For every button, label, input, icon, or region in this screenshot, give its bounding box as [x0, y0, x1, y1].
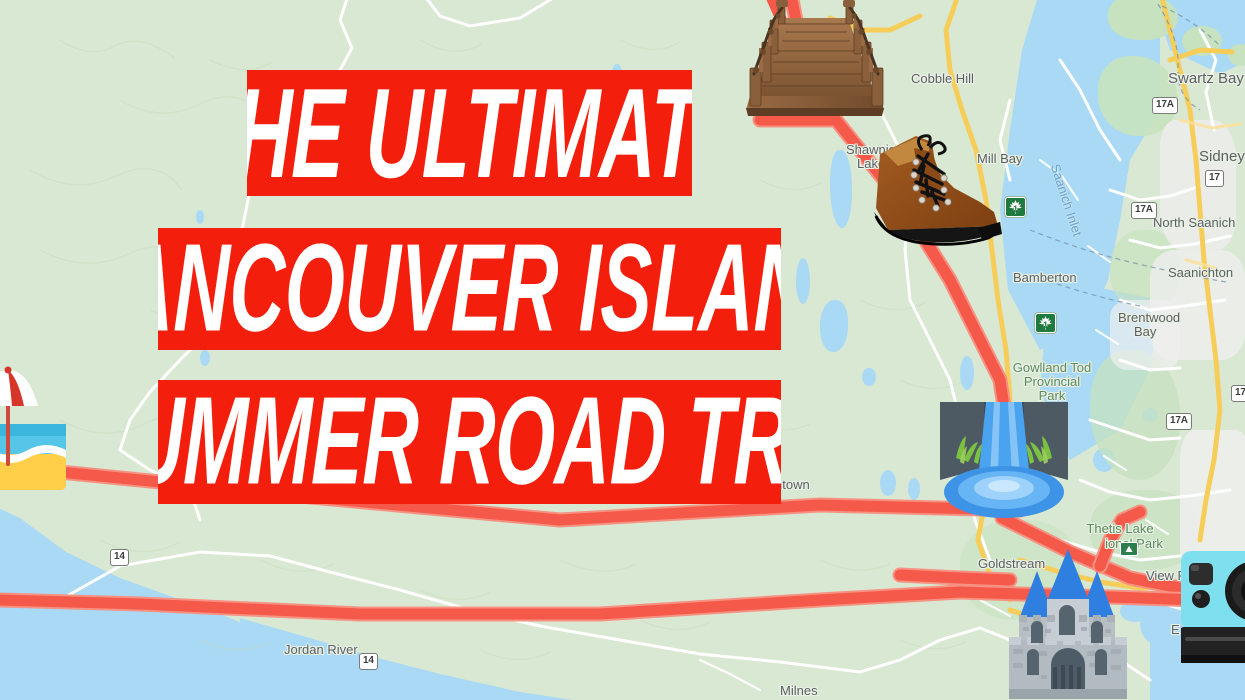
map-label-milnes: Milnes: [780, 683, 818, 698]
highway-shield-17-sidney[interactable]: 17: [1205, 170, 1224, 187]
highway-shield-14-west[interactable]: 14: [110, 549, 129, 566]
instant-camera-sticker: [1181, 545, 1245, 675]
hiking-boot-sticker: [858, 130, 1010, 256]
trans-canada-icon: 1: [1035, 313, 1056, 333]
trans-canada-number: 1: [1009, 204, 1022, 214]
map-label-saanich-inlet: Saanich Inlet: [1047, 162, 1085, 238]
castle-sticker: [993, 543, 1143, 700]
map-label-saanichton: Saanichton: [1168, 265, 1233, 280]
beach-umbrella-sticker: [0, 366, 72, 500]
map-label-jordan-river: Jordan River: [284, 642, 358, 657]
title-banner-line-1: THE ULTIMATE: [247, 70, 692, 196]
rope-bridge-sticker: [726, 0, 916, 128]
map-label-thetis-lake-1: Thetis Lake: [1086, 521, 1153, 536]
highway-shield-17-east[interactable]: 17: [1231, 385, 1245, 402]
map-label-brentwood-bay: Bay: [1134, 324, 1156, 339]
title-banner-line-3: SUMMER ROAD TRIP: [158, 380, 781, 504]
trans-canada-number: 1: [1039, 320, 1052, 330]
map-label-swartz-bay: Swartz Bay: [1168, 70, 1244, 88]
highway-shield-14-jordan-river[interactable]: 14: [359, 653, 378, 670]
title-banner-line-2-text: VANCOUVER ISLAND: [158, 228, 781, 350]
map-label-cobble-hill: Cobble Hill: [911, 71, 974, 86]
title-banner-line-2: VANCOUVER ISLAND: [158, 228, 781, 350]
highway-shield-17a-gowlland[interactable]: 17A: [1166, 413, 1192, 430]
title-banner-line-1-text: THE ULTIMATE: [247, 70, 692, 196]
maple-leaf-icon: 1: [1039, 316, 1052, 330]
map-label-bamberton: Bamberton: [1013, 270, 1077, 285]
title-banner-line-3-text: SUMMER ROAD TRIP: [158, 380, 781, 504]
map-label-sidney: Sidney: [1199, 148, 1245, 166]
waterfall-sticker: [940, 396, 1068, 524]
map-label-e: E: [1171, 622, 1180, 637]
highway-shield-17a-north-saanich[interactable]: 17A: [1131, 202, 1157, 219]
maple-leaf-icon: 1: [1009, 200, 1022, 214]
highway-shield-17a-swartz[interactable]: 17A: [1152, 97, 1178, 114]
thumbnail-canvas: Cobble Hill Shawnigan Lake Mill Bay Swar…: [0, 0, 1245, 700]
map-label-north-saanich: North Saanich: [1153, 215, 1235, 230]
